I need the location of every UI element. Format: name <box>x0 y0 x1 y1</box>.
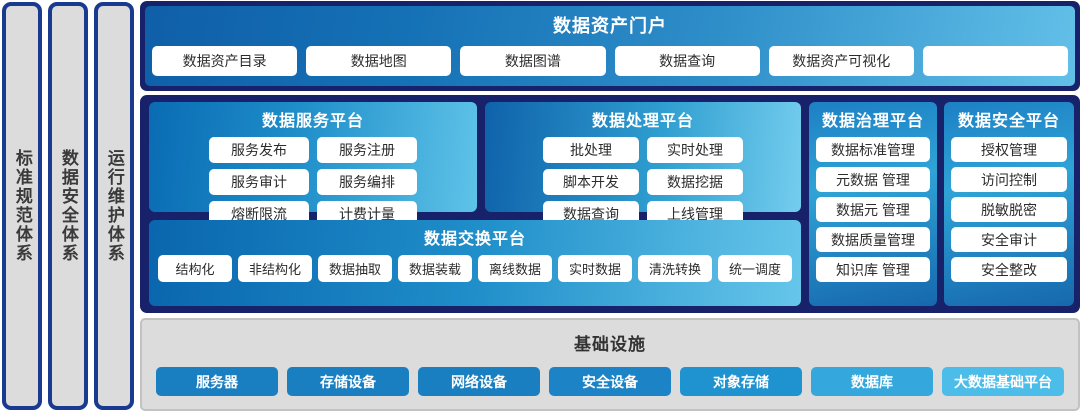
platform-item[interactable]: 数据质量管理 <box>816 227 930 252</box>
sidebar-operations-maintenance-system[interactable]: 运行维护体系 <box>94 2 134 410</box>
platform-item[interactable]: 访问控制 <box>951 167 1067 192</box>
data-exchange-platform-panel: 数据交换平台 结构化 非结构化 数据抽取 数据装载 离线数据 实时数据 清洗转换… <box>149 220 801 306</box>
sidebar-standard-system[interactable]: 标准规范体系 <box>2 2 42 410</box>
panel-item-grid: 服务发布 服务注册 服务审计 服务编排 熔断限流 计费计量 <box>149 137 477 227</box>
data-governance-platform-panel: 数据治理平台 数据标准管理 元数据 管理 数据元 管理 数据质量管理 知识库 管… <box>809 102 937 306</box>
panel-item-grid: 结构化 非结构化 数据抽取 数据装载 离线数据 实时数据 清洗转换 统一调度 <box>151 255 799 282</box>
architecture-diagram: 标准规范体系 数据安全体系 运行维护体系 数据资产门户 数据资产目录 数据地图 … <box>0 0 1080 412</box>
infrastructure-item[interactable]: 存储设备 <box>287 367 409 396</box>
panel-title: 数据安全平台 <box>958 107 1060 131</box>
infrastructure-item[interactable]: 网络设备 <box>418 367 540 396</box>
platform-item[interactable]: 清洗转换 <box>638 255 712 282</box>
sidebar-label: 数据安全体系 <box>59 149 77 263</box>
platform-item[interactable]: 脚本开发 <box>543 169 639 195</box>
panel-title: 数据服务平台 <box>262 107 364 131</box>
platform-item[interactable]: 服务注册 <box>317 137 417 163</box>
data-security-platform-panel: 数据安全平台 授权管理 访问控制 脱敏脱密 安全审计 安全整改 <box>944 102 1074 306</box>
platform-item[interactable]: 安全审计 <box>951 227 1067 252</box>
data-asset-portal-panel: 数据资产门户 数据资产目录 数据地图 数据图谱 数据查询 数据资产可视化 <box>145 6 1075 86</box>
sidebar-label: 标准规范体系 <box>13 149 31 263</box>
infrastructure-item[interactable]: 安全设备 <box>549 367 671 396</box>
platform-item[interactable]: 授权管理 <box>951 137 1067 162</box>
portal-item[interactable]: 数据地图 <box>306 46 451 76</box>
platform-item[interactable]: 数据抽取 <box>318 255 392 282</box>
platform-item[interactable]: 结构化 <box>158 255 232 282</box>
platform-item[interactable]: 离线数据 <box>478 255 552 282</box>
platform-item[interactable]: 脱敏脱密 <box>951 197 1067 222</box>
portal-item-empty[interactable] <box>923 46 1068 76</box>
platform-item[interactable]: 服务编排 <box>317 169 417 195</box>
platform-item[interactable]: 数据标准管理 <box>816 137 930 162</box>
portal-item[interactable]: 数据图谱 <box>460 46 605 76</box>
platform-item[interactable]: 非结构化 <box>238 255 312 282</box>
platform-item[interactable]: 服务发布 <box>209 137 309 163</box>
data-processing-platform-panel: 数据处理平台 批处理 实时处理 脚本开发 数据挖据 数据查询 上线管理 <box>485 102 801 212</box>
panel-item-grid: 数据标准管理 元数据 管理 数据元 管理 数据质量管理 知识库 管理 <box>809 137 937 282</box>
portal-item[interactable]: 数据资产目录 <box>152 46 297 76</box>
panel-title: 数据治理平台 <box>822 107 924 131</box>
portal-shell: 数据资产门户 数据资产目录 数据地图 数据图谱 数据查询 数据资产可视化 <box>140 1 1080 91</box>
platform-item[interactable]: 批处理 <box>543 137 639 163</box>
platforms-shell: 数据服务平台 服务发布 服务注册 服务审计 服务编排 熔断限流 计费计量 数据处… <box>140 95 1080 313</box>
sidebar-label: 运行维护体系 <box>105 149 123 263</box>
infrastructure-panel: 基础设施 服务器 存储设备 网络设备 安全设备 对象存储 数据库 大数据基础平台 <box>140 318 1080 411</box>
infrastructure-item[interactable]: 大数据基础平台 <box>942 367 1064 396</box>
infrastructure-title: 基础设施 <box>574 330 646 355</box>
panel-item-grid: 授权管理 访问控制 脱敏脱密 安全审计 安全整改 <box>944 137 1074 282</box>
platform-item[interactable]: 数据元 管理 <box>816 197 930 222</box>
platform-item[interactable]: 服务审计 <box>209 169 309 195</box>
portal-title: 数据资产门户 <box>553 12 667 38</box>
platforms-inner: 数据服务平台 服务发布 服务注册 服务审计 服务编排 熔断限流 计费计量 数据处… <box>145 100 1075 308</box>
portal-item[interactable]: 数据资产可视化 <box>769 46 914 76</box>
platform-item[interactable]: 数据挖据 <box>647 169 743 195</box>
platform-item[interactable]: 实时数据 <box>558 255 632 282</box>
panel-item-grid: 批处理 实时处理 脚本开发 数据挖据 数据查询 上线管理 <box>485 137 801 227</box>
infrastructure-item[interactable]: 服务器 <box>156 367 278 396</box>
platform-item[interactable]: 知识库 管理 <box>816 257 930 282</box>
platform-item[interactable]: 数据装载 <box>398 255 472 282</box>
infrastructure-item[interactable]: 对象存储 <box>680 367 802 396</box>
portal-item-row: 数据资产目录 数据地图 数据图谱 数据查询 数据资产可视化 <box>145 46 1075 76</box>
platform-item[interactable]: 实时处理 <box>647 137 743 163</box>
infrastructure-item-row: 服务器 存储设备 网络设备 安全设备 对象存储 数据库 大数据基础平台 <box>142 367 1078 396</box>
panel-title: 数据处理平台 <box>592 107 694 131</box>
platform-item[interactable]: 统一调度 <box>718 255 792 282</box>
platform-item[interactable]: 元数据 管理 <box>816 167 930 192</box>
infrastructure-item[interactable]: 数据库 <box>811 367 933 396</box>
panel-title: 数据交换平台 <box>424 225 526 249</box>
main-column: 数据资产门户 数据资产目录 数据地图 数据图谱 数据查询 数据资产可视化 数据服… <box>140 0 1080 412</box>
data-service-platform-panel: 数据服务平台 服务发布 服务注册 服务审计 服务编排 熔断限流 计费计量 <box>149 102 477 212</box>
platform-item[interactable]: 安全整改 <box>951 257 1067 282</box>
sidebar-data-security-system[interactable]: 数据安全体系 <box>48 2 88 410</box>
portal-item[interactable]: 数据查询 <box>615 46 760 76</box>
